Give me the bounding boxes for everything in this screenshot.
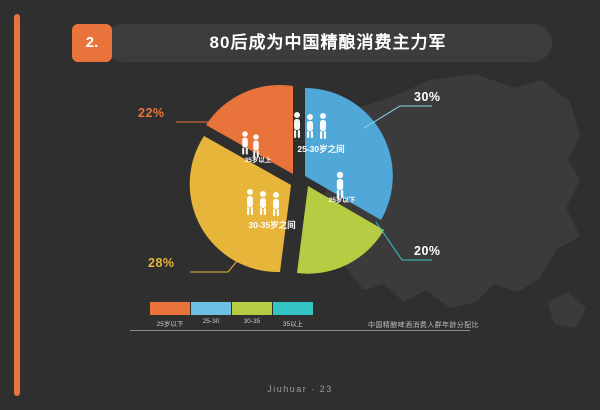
slice-label-blue: 25-30岁之间 — [297, 144, 344, 154]
left-accent-rail — [14, 14, 20, 396]
legend-label-2: 30-35 — [232, 318, 272, 325]
legend-label-1: 25-30 — [191, 318, 231, 325]
legend: 25岁以下 25-30 30-35 35以上 — [150, 302, 310, 328]
legend-swatch-orange — [150, 302, 190, 315]
slide: 2. 80后成为中国精酿消费主力军 — [0, 0, 600, 410]
legend-item-2[interactable]: 30-35 — [232, 302, 272, 325]
legend-swatch-blue — [191, 302, 231, 315]
legend-swatch-teal — [273, 302, 313, 315]
slice-label-green: 25岁以下 — [329, 195, 356, 204]
pct-label-blue: 30% — [414, 90, 441, 104]
page-title: 80后成为中国精酿消费主力军 — [104, 24, 552, 62]
pie-chart: 25-30岁之间 35岁以上 30-35岁之间 25岁以下 30% 20% 28… — [150, 70, 450, 290]
chart-caption: 中国精酿啤酒消费人群年龄分配比 — [368, 320, 479, 330]
legend-label-3: 35以上 — [273, 318, 313, 328]
pct-label-yellow: 28% — [148, 256, 175, 270]
legend-swatch-green — [232, 302, 272, 315]
footer: Jiuhuar · 23 — [0, 384, 600, 394]
legend-item-0[interactable]: 25岁以下 — [150, 302, 190, 328]
legend-label-0: 25岁以下 — [150, 318, 190, 328]
chart-baseline — [130, 330, 470, 331]
legend-item-1[interactable]: 25-30 — [191, 302, 231, 325]
header: 2. 80后成为中国精酿消费主力军 — [72, 24, 552, 62]
slice-label-yellow: 30-35岁之间 — [248, 220, 295, 230]
slice-label-orange: 35岁以上 — [245, 155, 272, 164]
legend-item-3[interactable]: 35以上 — [273, 302, 313, 328]
pct-label-orange: 22% — [138, 106, 165, 120]
pct-label-green: 20% — [414, 244, 441, 258]
